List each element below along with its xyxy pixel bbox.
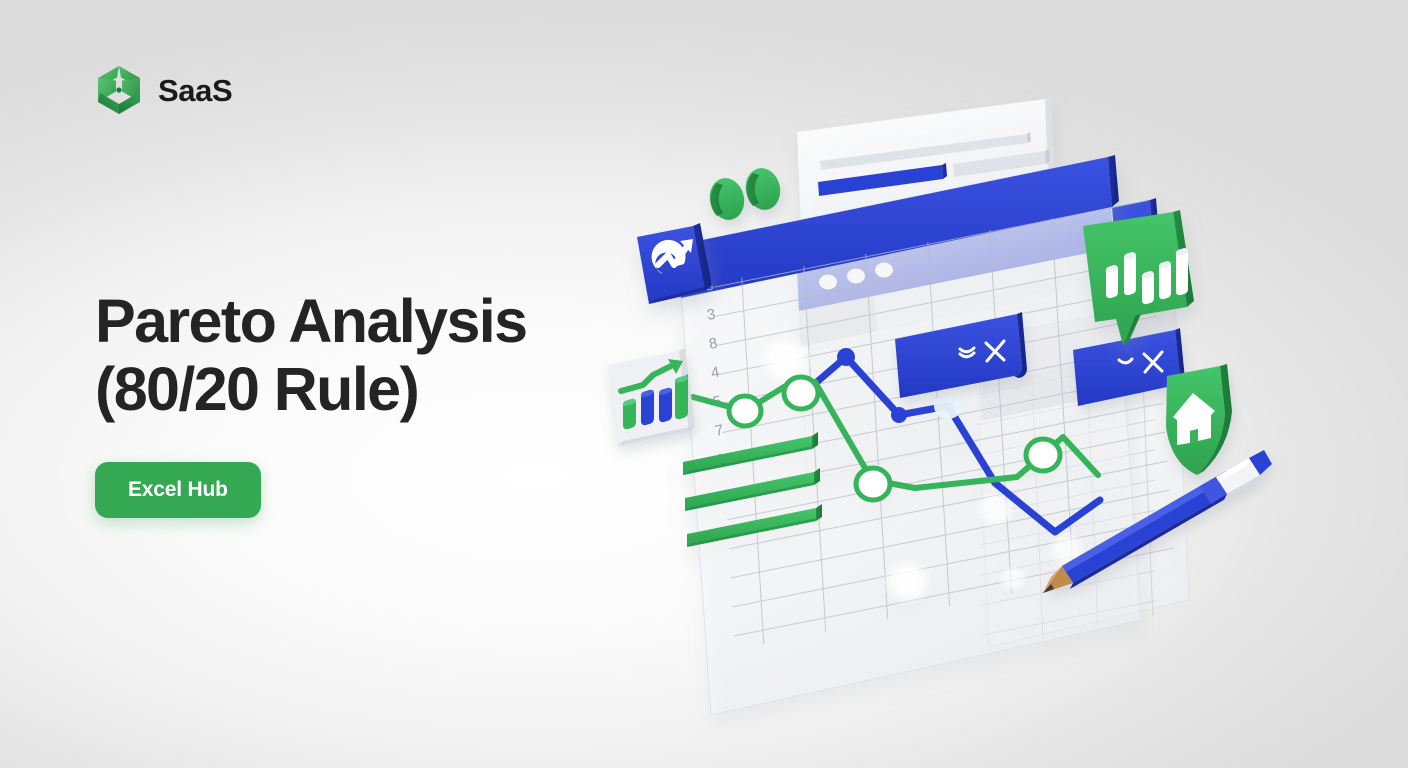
illustration: 3 3 8 4 5 7 9 [575,95,1335,675]
dual-pill-icon [706,165,785,224]
bar-chart-card-badge[interactable] [607,348,695,446]
page-title-line-1: Pareto Analysis [95,287,526,355]
blue-point [837,348,855,366]
excel-hub-button[interactable]: Excel Hub [95,462,261,518]
analytics-trend-badge[interactable] [637,223,712,304]
brand-logo[interactable]: SaaS [95,64,232,116]
hexagon-cube-logo-icon [95,64,143,116]
brand-name: SaaS [158,75,232,106]
blue-point [891,407,907,423]
